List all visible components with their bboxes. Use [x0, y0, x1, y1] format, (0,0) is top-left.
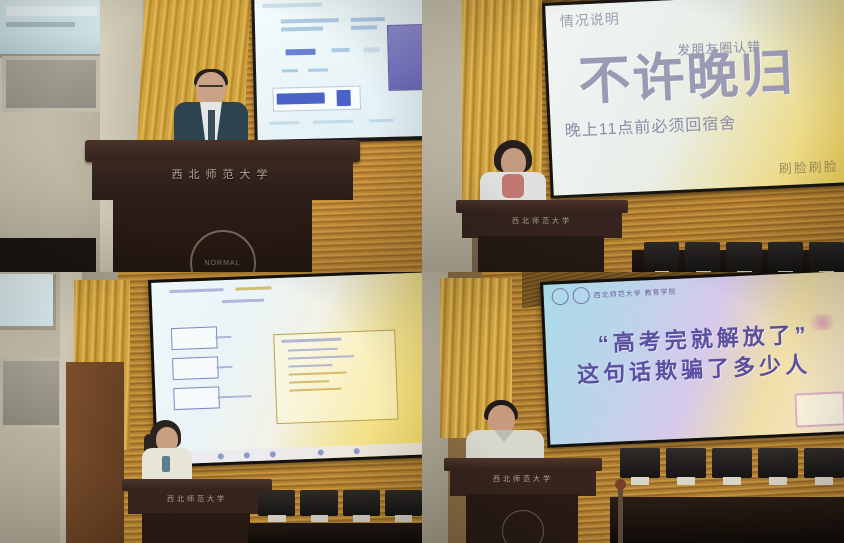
- slide-footer: 刷脸刷脸: [778, 156, 839, 178]
- wall-board: [2, 56, 100, 112]
- audience-seat: [804, 448, 844, 478]
- lectern-podium: 西北师范大学 NORMAL: [85, 140, 360, 272]
- speaker-person: [172, 72, 250, 150]
- audience-seat: [300, 490, 337, 516]
- slide-logo-row: 西北师范大学 教育学院: [551, 283, 677, 306]
- audience-desk: [610, 497, 844, 543]
- slide-title: 不许晚归: [577, 47, 795, 109]
- audience-seat: [385, 490, 422, 516]
- lectern-podium: 西北师范大学: [456, 200, 628, 272]
- podium-base: [142, 513, 250, 543]
- audience-seat: [809, 242, 844, 272]
- side-door: [66, 362, 124, 543]
- audience-seat-row: [258, 490, 422, 530]
- podium-wordmark: 西北师范大学: [444, 474, 602, 484]
- collage-panel-top-left[interactable]: 西北师范大学 NORMAL: [0, 0, 422, 272]
- college-seal-icon: [572, 287, 590, 305]
- wall-board: [0, 358, 62, 428]
- lectern-podium: 西北师范大学: [444, 458, 602, 543]
- slide-kicker: 情况说明: [559, 8, 620, 31]
- floor-shadow: [0, 238, 96, 272]
- slide-book-graphic: [794, 391, 844, 427]
- name-badge: [162, 456, 170, 472]
- podium-wordmark: 西北师范大学: [456, 216, 628, 226]
- audience-seat: [726, 242, 761, 272]
- slide-note: 晚上11点前必须回宿舍: [564, 109, 737, 141]
- audience-seat: [758, 448, 798, 478]
- slide-org-line: 西北师范大学 教育学院: [593, 286, 676, 300]
- projection-screen-slide: 情况说明 发朋友圈认错 不许晚归 晚上11点前必须回宿舍 刷脸刷脸: [542, 0, 844, 199]
- audience-seat: [712, 448, 752, 478]
- podium-base: [478, 236, 604, 272]
- audience-seat: [666, 448, 706, 478]
- speaker-scarf: [502, 174, 524, 198]
- collage-panel-bottom-left[interactable]: 西北师范大学: [0, 272, 422, 543]
- collage-panel-bottom-right[interactable]: 西北师范大学 教育学院 “高考完就解放了” 这句话欺骗了多少人 西北师范大学: [422, 272, 844, 543]
- podium-wordmark: 西北师范大学: [85, 166, 360, 182]
- audience-seat: [343, 490, 380, 516]
- photo-collage: 西北师范大学 NORMAL 情况说明 发朋友圈认错 不许晚归 晚上11点前必须回…: [0, 0, 844, 543]
- slide-ornament: [805, 313, 840, 331]
- ui-dialog-window: [387, 24, 422, 91]
- projection-screen-slide: 西北师范大学 教育学院 “高考完就解放了” 这句话欺骗了多少人: [540, 272, 844, 448]
- projection-screen-computer-ui: [251, 0, 422, 144]
- podium-wordmark: 西北师范大学: [122, 494, 272, 504]
- university-seal-icon: [551, 288, 569, 306]
- audience-seat-row: [644, 218, 844, 272]
- glasses-icon: [199, 85, 223, 92]
- audience-seat: [768, 242, 803, 272]
- speaker-tie: [208, 110, 215, 140]
- audience-seat-row: [620, 448, 844, 498]
- audience-seat: [644, 242, 679, 272]
- collage-panel-top-right[interactable]: 情况说明 发朋友圈认错 不许晚归 晚上11点前必须回宿舍 刷脸刷脸 西北师范大学: [422, 0, 844, 272]
- audience-seat: [685, 242, 720, 272]
- hall-window: [0, 274, 56, 330]
- podium-top: [85, 140, 360, 162]
- audience-seat: [258, 490, 295, 516]
- audience-seat: [620, 448, 660, 478]
